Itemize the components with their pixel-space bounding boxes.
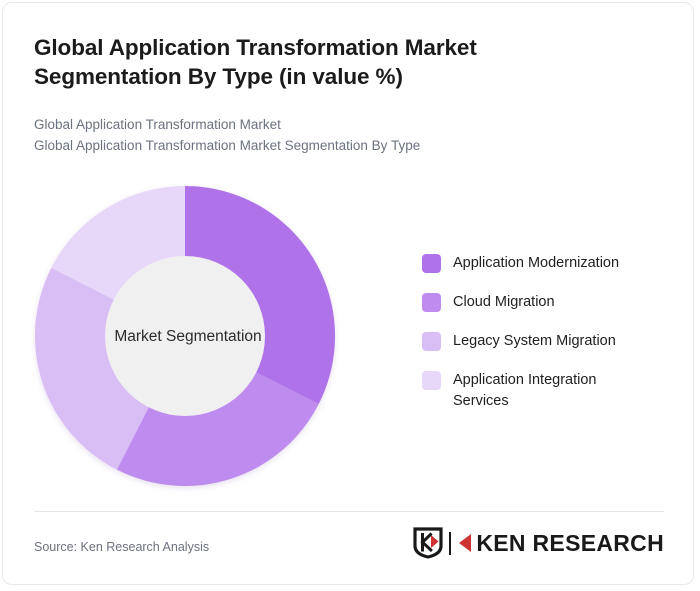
footer-divider [34, 511, 664, 512]
donut-center-hole [105, 256, 265, 416]
legend-label: Application Modernization [453, 253, 619, 274]
legend-item[interactable]: Cloud Migration [422, 292, 672, 313]
logo-divider [449, 532, 451, 555]
legend-item[interactable]: Legacy System Migration [422, 331, 672, 352]
donut-chart: Market Segmentation [31, 181, 341, 493]
chart-card: Global Application Transformation Market… [2, 2, 694, 585]
legend-swatch-icon [422, 332, 441, 351]
legend-item[interactable]: Application Modernization [422, 253, 672, 274]
donut-chart-svg [31, 181, 341, 493]
subtitle-block: Global Application Transformation Market… [34, 114, 634, 156]
source-note: Source: Ken Research Analysis [34, 540, 209, 554]
legend-swatch-icon [422, 254, 441, 273]
logo-text: KEN RESEARCH [476, 530, 664, 557]
legend-swatch-icon [422, 371, 441, 390]
legend-label: Legacy System Migration [453, 331, 616, 352]
logo-red-triangle-icon [458, 532, 472, 554]
subtitle-line-2: Global Application Transformation Market… [34, 135, 634, 156]
page-title: Global Application Transformation Market… [34, 33, 594, 91]
ken-research-shield-k-icon [413, 527, 443, 559]
ken-research-logo: KEN RESEARCH [413, 525, 664, 561]
subtitle-line-1: Global Application Transformation Market [34, 114, 634, 135]
legend-label: Application Integration Services [453, 370, 653, 411]
legend-swatch-icon [422, 293, 441, 312]
chart-legend: Application ModernizationCloud Migration… [422, 253, 672, 430]
legend-label: Cloud Migration [453, 292, 555, 313]
legend-item[interactable]: Application Integration Services [422, 370, 672, 411]
